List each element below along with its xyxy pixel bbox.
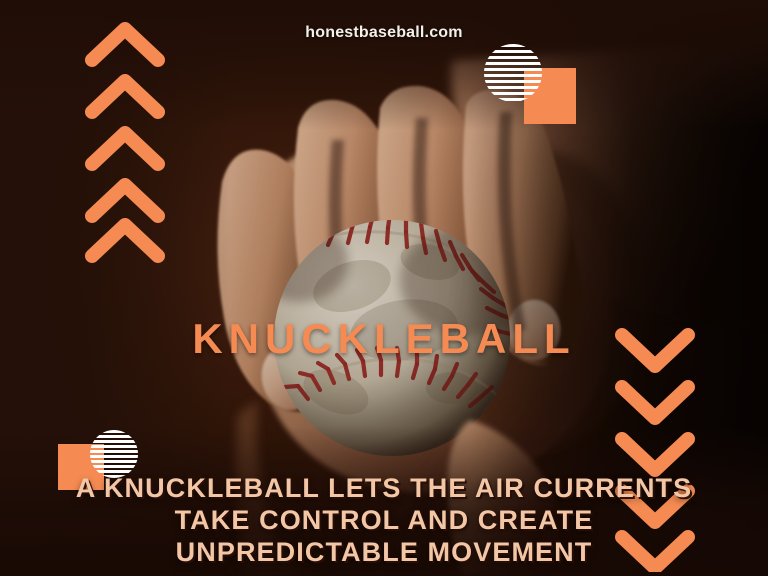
- subtitle-line-2: TAKE CONTROL AND CREATE: [0, 504, 768, 536]
- subtitle-block: A KNUCKLEBALL LETS THE AIR CURRENTS TAKE…: [0, 472, 768, 568]
- chevron-up-icon: [92, 225, 158, 256]
- chevron-up-icon: [92, 81, 158, 112]
- striped-circle-icon: [90, 430, 138, 478]
- left-chevron-stack: [84, 20, 166, 265]
- site-url-label: honestbaseball.com: [0, 24, 768, 42]
- chevron-down-icon: [622, 439, 688, 470]
- chevron-up-icon: [92, 133, 158, 164]
- chevron-up-icon: [92, 185, 158, 216]
- top-right-badge: [484, 44, 576, 126]
- poster-canvas: honestbaseball.com KNUCKLEBALL A KNUCKLE…: [0, 0, 768, 576]
- chevron-down-icon: [622, 387, 688, 418]
- striped-circle-icon: [484, 44, 542, 102]
- page-title: KNUCKLEBALL: [0, 315, 768, 363]
- subtitle-line-3: UNPREDICTABLE MOVEMENT: [0, 536, 768, 568]
- subtitle-line-1: A KNUCKLEBALL LETS THE AIR CURRENTS: [0, 472, 768, 504]
